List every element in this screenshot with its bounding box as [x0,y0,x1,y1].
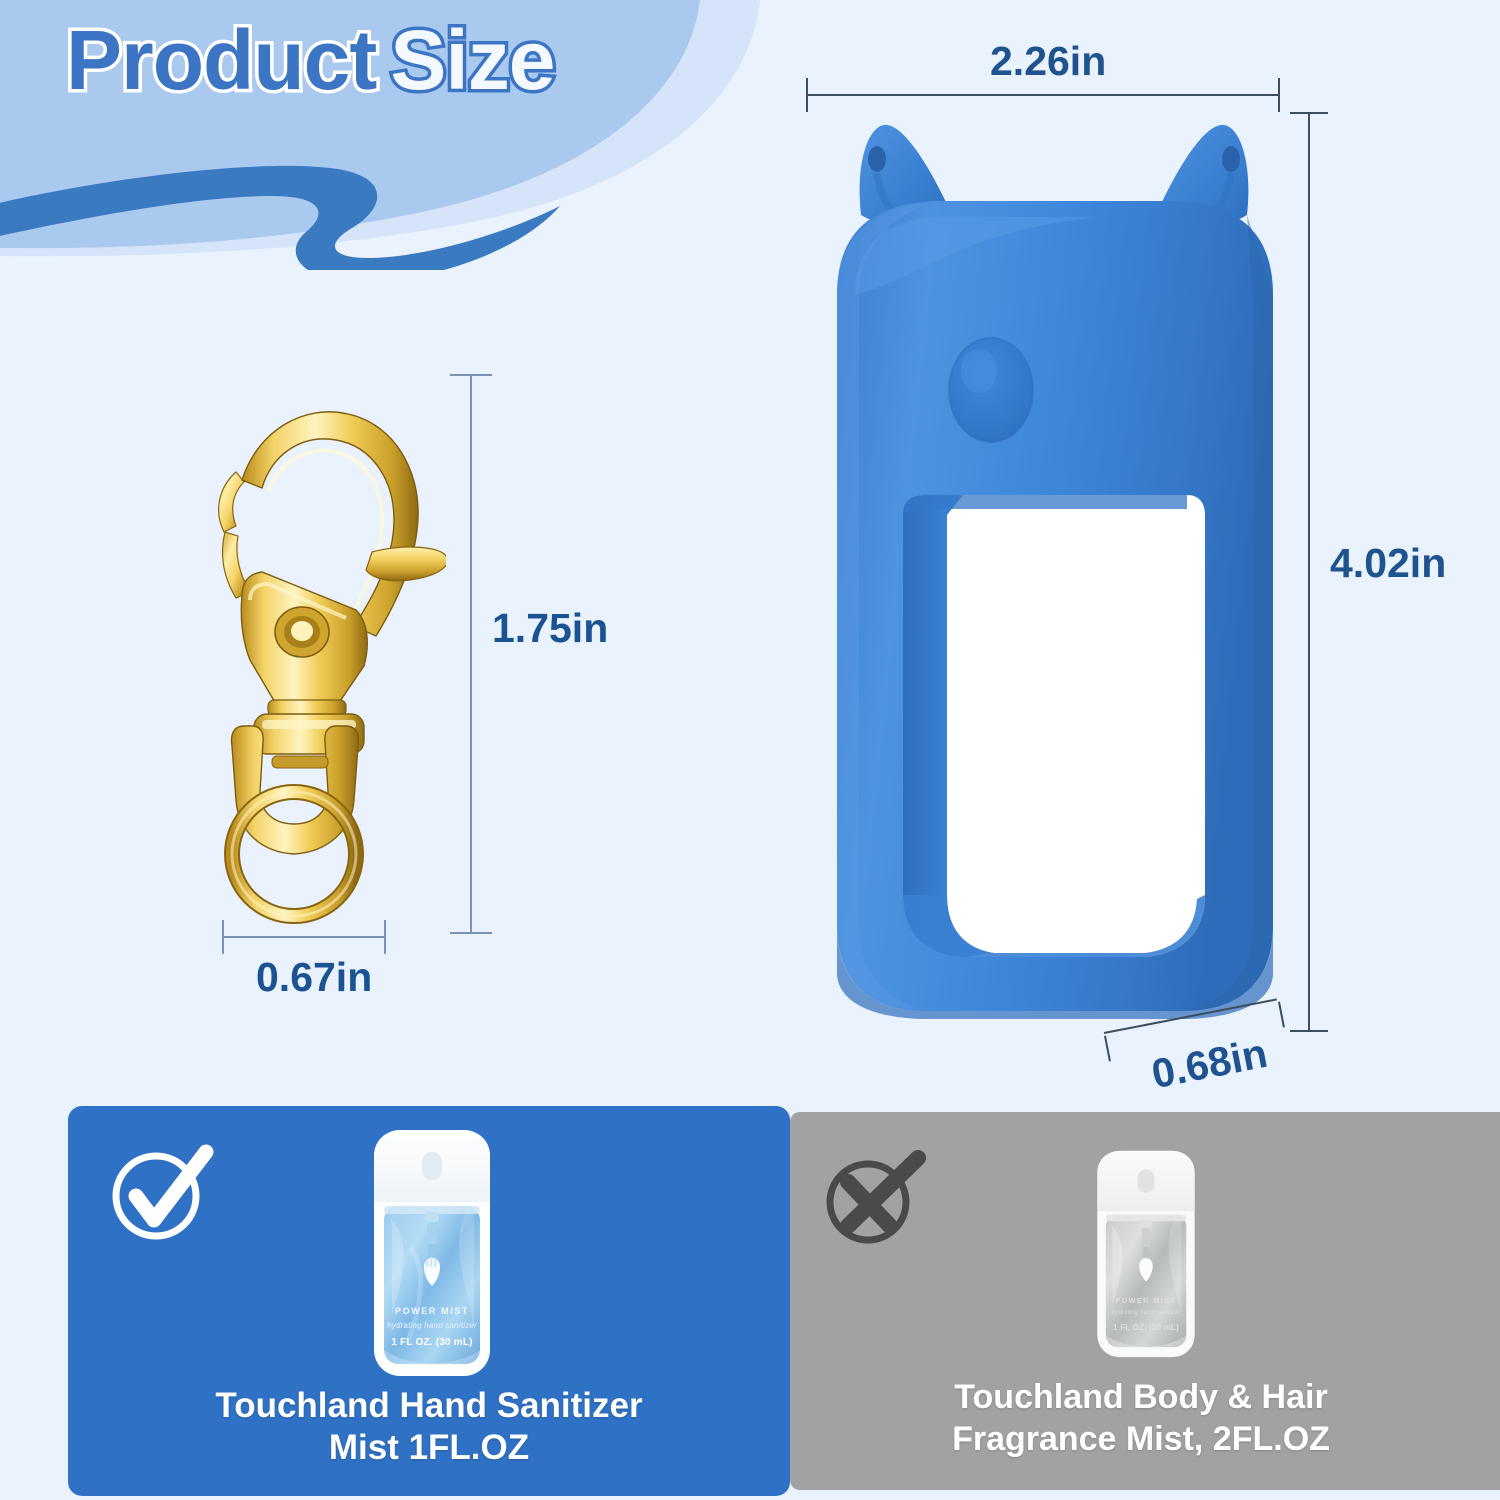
keychain-image [206,360,446,940]
case-width-tick-left [806,78,808,112]
clasp-lever [366,547,446,581]
case-depth-label: 0.68in [1148,1030,1271,1098]
title-word-size: Size [390,13,554,107]
keychain-width-tick-left [222,920,224,954]
case-width-dimline [806,94,1280,96]
keychain-height-tick-top [450,374,492,376]
case-height-tick-bottom [1290,1030,1328,1032]
x-circle-icon [822,1146,926,1250]
case-height-tick-top [1290,112,1328,114]
incompatible-caption: Touchland Body & Hair Fragrance Mist, 2F… [782,1377,1500,1460]
case-depth-tick-left [1104,1036,1111,1062]
case-height-dimline [1308,112,1310,1032]
case-height-label: 4.02in [1330,540,1446,587]
hand-sanitizer-bottle: POWER MIST hydrating hand sanitizer 1 FL… [370,1128,494,1378]
keychain-height-tick-bottom [450,932,492,934]
fragrance-mist-bottle: POWER MIST hydrating hand sanitizer 1 FL… [1094,1148,1198,1360]
compatible-caption-line2: Mist 1FL.OZ [68,1427,790,1470]
compatible-caption: Touchland Hand Sanitizer Mist 1FL.OZ [68,1385,790,1470]
case-width-label: 2.26in [990,38,1106,85]
keychain-width-label: 0.67in [256,954,372,1001]
header-banner: ProductSize [0,0,860,270]
keychain-height-label: 1.75in [492,605,608,652]
keychain-height-dimline [470,374,472,934]
ear-hole-right [1222,146,1240,172]
infographic-canvas: ProductSize [0,0,1500,1500]
keychain-width-tick-right [384,920,386,954]
case-window [903,495,1205,957]
incompatible-caption-line1: Touchland Body & Hair [782,1377,1500,1418]
ear-hole-left [868,146,886,172]
title-word-product: Product [66,13,376,107]
keychain-width-dimline [222,936,386,938]
case-width-tick-right [1278,78,1280,112]
page-title: ProductSize [66,18,554,102]
incompatible-caption-line2: Fragrance Mist, 2FL.OZ [782,1419,1500,1460]
silicone-case-image [795,95,1315,1035]
check-circle-icon [106,1138,214,1246]
compatible-caption-line1: Touchland Hand Sanitizer [68,1385,790,1428]
